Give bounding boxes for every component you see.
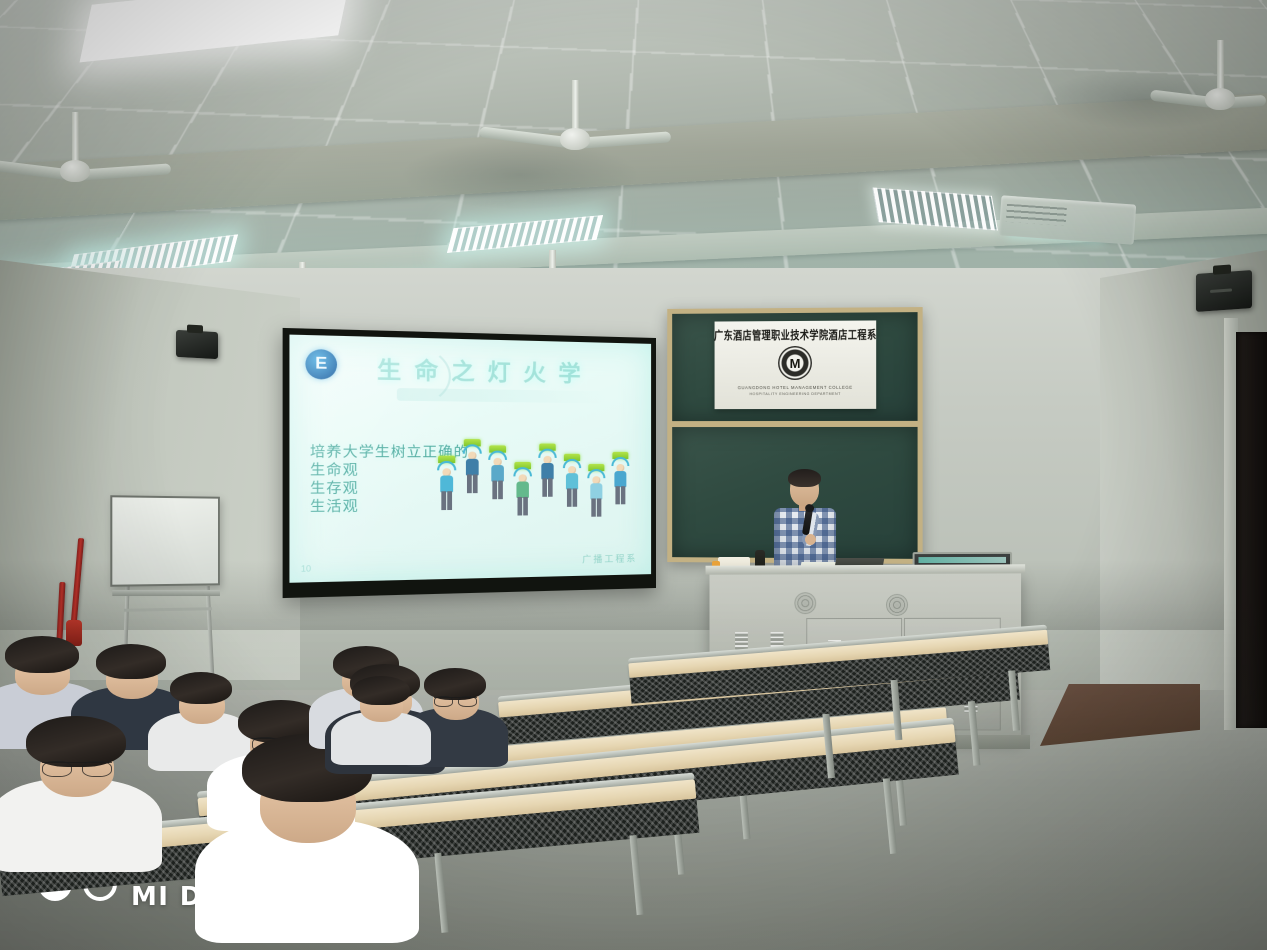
podium-top-surface (706, 564, 1026, 574)
slide-figure (563, 454, 581, 511)
figure-legs (567, 488, 577, 506)
slide-figure (488, 445, 507, 503)
presenter-hand (805, 534, 816, 545)
student-hair (96, 644, 166, 679)
banner-subtext: GUANGDONG HOTEL MANAGEMENT COLLEGE (738, 385, 853, 390)
figure-legs (441, 491, 452, 510)
student (96, 644, 166, 704)
department-banner: 广东酒店管理职业技术学院酒店工程系 M GUANGDONG HOTEL MANA… (715, 320, 877, 409)
student (352, 676, 410, 726)
podium-emblem-icon (794, 592, 816, 614)
student-hair (5, 636, 79, 673)
banner-logo-letter: M (790, 356, 801, 369)
whiteboard-marker-tray (112, 590, 220, 596)
banner-title: 广东酒店管理职业技术学院酒店工程系 (714, 325, 877, 343)
student (5, 636, 79, 700)
slide-figure (437, 456, 456, 515)
student-hair (424, 668, 486, 700)
banner-logo-icon: M (778, 346, 812, 380)
slide-logo-letter: E (315, 356, 327, 373)
slide-page-number: 10 (301, 564, 311, 574)
classroom-photo: E 生 命 之 灯 火 学 培养大学生树立正确的 生命观 生存观 生活观 广播工… (0, 0, 1267, 950)
student (170, 672, 232, 728)
projection-screen[interactable]: E 生 命 之 灯 火 学 培养大学生树立正确的 生命观 生存观 生活观 广播工… (283, 328, 656, 598)
figure-body (466, 459, 479, 476)
slide-title: 生 命 之 灯 火 学 (377, 352, 638, 390)
slide-footer: 广播工程系 (582, 551, 637, 565)
slide-figure (538, 444, 557, 501)
wall-speaker-icon (1196, 270, 1252, 312)
student-hair (26, 716, 126, 767)
figure-legs (615, 486, 625, 504)
slide-illustration-graduates (437, 439, 643, 521)
figure-body (566, 473, 578, 489)
student (26, 716, 126, 804)
figure-body (590, 483, 602, 499)
whiteboard[interactable] (110, 495, 220, 587)
ceiling-fan (1205, 40, 1235, 120)
slide-surface: E 生 命 之 灯 火 学 培养大学生树立正确的 生命观 生存观 生活观 广播工… (289, 335, 651, 583)
slide-figure (463, 439, 482, 497)
slide-logo-icon: E (305, 349, 337, 380)
slide-figure (513, 462, 532, 520)
slide-figure (611, 452, 629, 509)
glasses-icon (42, 762, 112, 774)
figure-body (440, 476, 453, 493)
wall-speaker-icon (176, 330, 218, 359)
figure-body (614, 471, 626, 487)
student-hair (170, 672, 232, 704)
figure-legs (517, 497, 527, 516)
presenter-hair (788, 469, 821, 487)
figure-legs (467, 474, 478, 493)
banner-subtext-secondary: HOSPITALITY ENGINEERING DEPARTMENT (749, 392, 840, 396)
student-hair (352, 676, 410, 705)
slide-subtitle-bar (397, 388, 607, 403)
figure-body (491, 465, 504, 482)
doorway[interactable] (1236, 332, 1267, 728)
figure-legs (492, 481, 502, 500)
podium-emblem-icon (886, 594, 908, 616)
student (424, 668, 486, 724)
glasses-icon (434, 697, 477, 705)
ceiling-fan (560, 80, 590, 160)
figure-body (516, 481, 528, 498)
figure-legs (542, 478, 552, 496)
slide-figure (587, 464, 605, 521)
figure-body (541, 463, 553, 479)
ceiling-fan (60, 112, 90, 192)
figure-legs (591, 498, 601, 516)
